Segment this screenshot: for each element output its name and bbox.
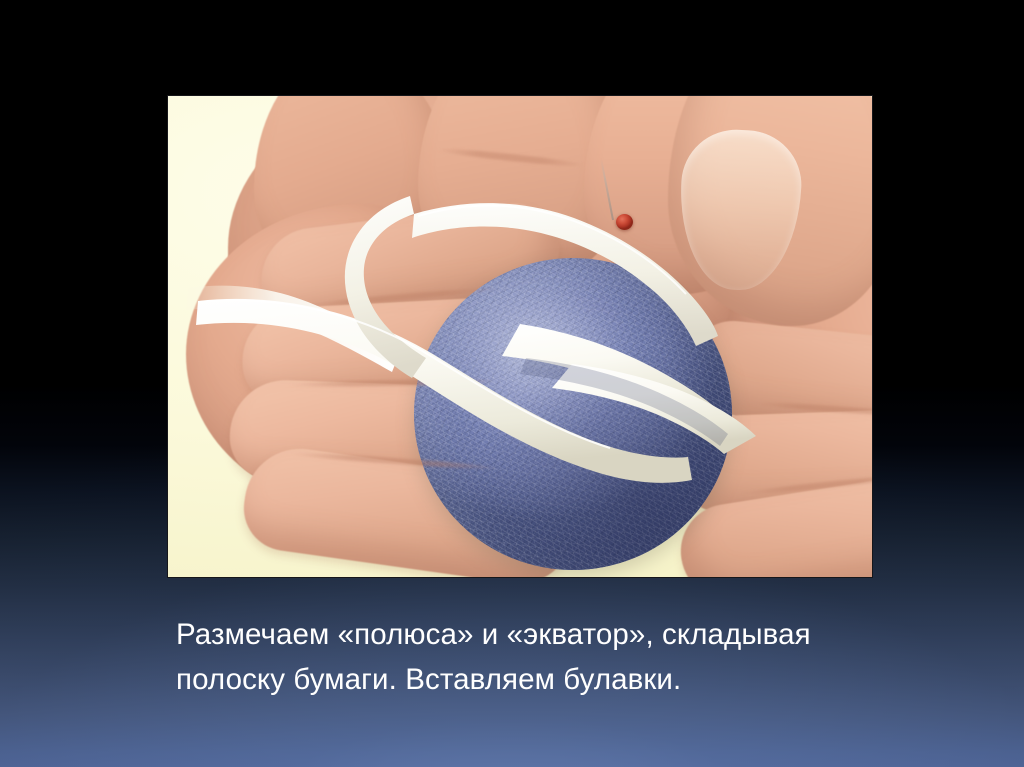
- pin-head: [616, 214, 633, 230]
- slide: Размечаем «полюса» и «экватор», складыва…: [0, 0, 1024, 767]
- photo-canvas: [168, 96, 872, 577]
- paper-strip: [168, 96, 873, 578]
- paper-strip-upper-arc: [412, 203, 718, 346]
- slide-caption: Размечаем «полюса» и «экватор», складыва…: [176, 612, 916, 702]
- photo-frame[interactable]: [167, 95, 873, 578]
